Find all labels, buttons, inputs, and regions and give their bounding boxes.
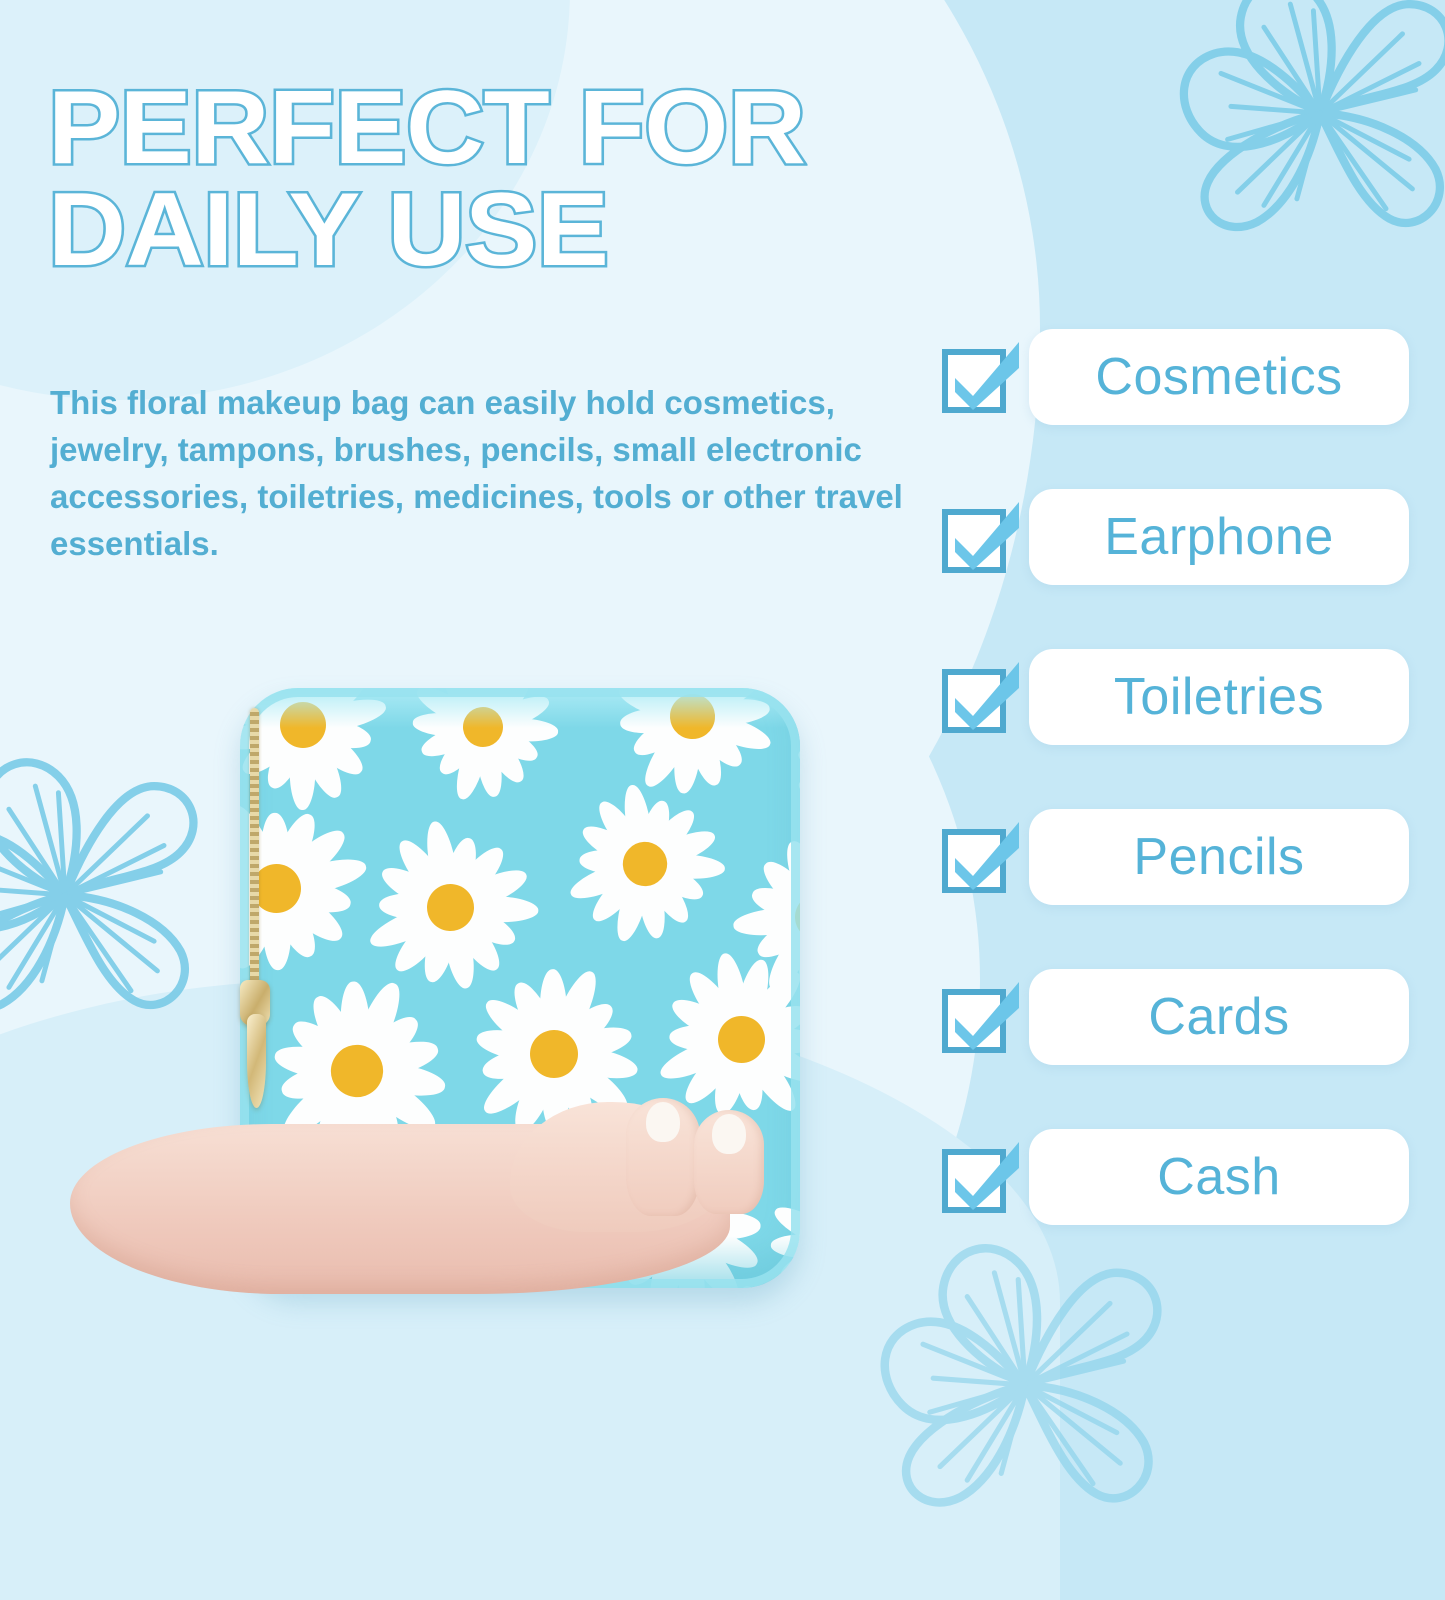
list-item[interactable]: Cash [939, 1128, 1409, 1226]
list-item-label: Cash [1157, 1151, 1280, 1203]
hand [70, 1096, 870, 1336]
checkbox-checked-icon[interactable] [939, 494, 1025, 580]
list-item[interactable]: Toiletries [939, 648, 1409, 746]
finger [626, 1098, 700, 1216]
feature-checklist: Cosmetics Earphone Toiletries [939, 328, 1409, 1226]
feature-pill[interactable]: Toiletries [1029, 649, 1409, 745]
list-item[interactable]: Pencils [939, 808, 1409, 906]
list-item[interactable]: Cosmetics [939, 328, 1409, 426]
feature-pill[interactable]: Earphone [1029, 489, 1409, 585]
feature-pill[interactable]: Cash [1029, 1129, 1409, 1225]
list-item-label: Pencils [1133, 831, 1304, 883]
checkbox-checked-icon[interactable] [939, 974, 1025, 1060]
product-image [130, 660, 850, 1320]
feature-pill[interactable]: Pencils [1029, 809, 1409, 905]
feature-pill[interactable]: Cosmetics [1029, 329, 1409, 425]
checkbox-checked-icon[interactable] [939, 654, 1025, 740]
headline-line-1: PERFECT FOR [48, 78, 1015, 180]
fingernail [646, 1102, 680, 1142]
list-item[interactable]: Earphone [939, 488, 1409, 586]
list-item-label: Toiletries [1114, 671, 1324, 723]
list-item-label: Cosmetics [1095, 351, 1342, 403]
fingernail [712, 1114, 746, 1154]
list-item[interactable]: Cards [939, 968, 1409, 1066]
feature-pill[interactable]: Cards [1029, 969, 1409, 1065]
checkbox-checked-icon[interactable] [939, 814, 1025, 900]
checkbox-checked-icon[interactable] [939, 334, 1025, 420]
bag-top-edge [240, 688, 800, 728]
description-paragraph: This floral makeup bag can easily hold c… [50, 380, 960, 567]
list-item-label: Cards [1148, 991, 1289, 1043]
headline-line-2: DAILY USE [48, 180, 1015, 282]
zipper[interactable] [238, 708, 278, 1138]
page-title: PERFECT FOR DAILY USE [48, 78, 978, 282]
zipper-pull[interactable] [247, 1014, 266, 1108]
list-item-label: Earphone [1104, 511, 1334, 563]
finger [694, 1110, 764, 1214]
checkbox-checked-icon[interactable] [939, 1134, 1025, 1220]
zipper-teeth [250, 708, 259, 1008]
